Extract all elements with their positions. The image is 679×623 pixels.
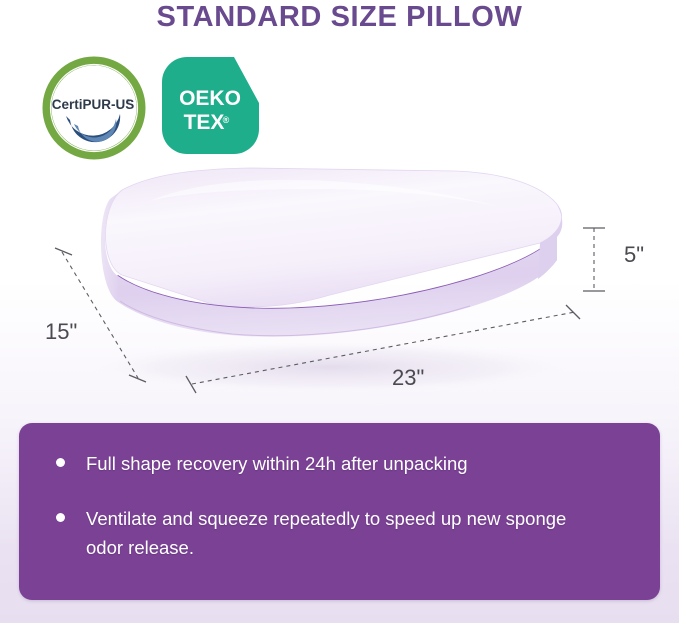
oeko-tex-badge: OEKO TEX ® xyxy=(162,57,259,154)
certipur-us-badge: CONTAINS CERTIFIED FLEXIBLE POLYURETHANE… xyxy=(40,54,148,162)
certipur-registered-mark: ® xyxy=(126,98,130,105)
page-title: STANDARD SIZE PILLOW xyxy=(0,0,679,34)
product-infographic: STANDARD SIZE PILLOW CONTAINS CERTIFIED … xyxy=(0,0,679,623)
product-image xyxy=(0,155,679,410)
dimension-label-width: 23" xyxy=(392,366,424,390)
oeko-tex-registered-mark: ® xyxy=(223,115,230,125)
feature-text: Full shape recovery within 24h after unp… xyxy=(86,449,468,478)
pillow-shadow xyxy=(80,341,580,393)
bullet-icon xyxy=(56,458,65,467)
feature-text: Ventilate and squeeze repeatedly to spee… xyxy=(86,504,606,562)
dimension-line-height xyxy=(583,228,605,291)
oeko-tex-line2: TEX xyxy=(184,111,225,134)
feature-callout-card: Full shape recovery within 24h after unp… xyxy=(19,423,660,600)
dimension-label-depth: 15" xyxy=(45,320,77,344)
feature-item: Full shape recovery within 24h after unp… xyxy=(39,449,630,478)
oeko-tex-line1: OEKO xyxy=(179,87,241,110)
bullet-icon xyxy=(56,513,65,522)
certipur-main-text: CertiPUR-US xyxy=(52,97,135,112)
feature-item: Ventilate and squeeze repeatedly to spee… xyxy=(39,504,630,562)
dimension-label-height: 5" xyxy=(624,243,644,267)
certification-badges: CONTAINS CERTIFIED FLEXIBLE POLYURETHANE… xyxy=(40,52,270,164)
